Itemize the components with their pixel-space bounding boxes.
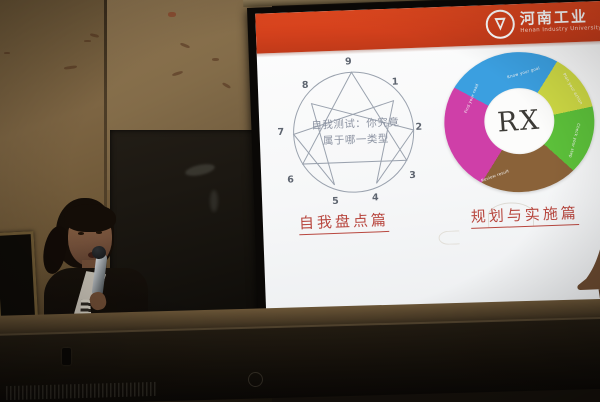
enneagram-point-7: 7: [277, 127, 284, 138]
eye-right: [96, 231, 102, 234]
pencil-arc-sketch-small-icon: [438, 230, 459, 245]
shield-check-logo-icon: [486, 9, 516, 39]
hair-front: [64, 204, 116, 232]
donut-chart: RX Know your goal Plan your action Check…: [442, 49, 600, 200]
enneagram-diagram: 9 1 2 3 4 5 6 7 8 自我测试：你究竟 属于哪一类型: [279, 60, 429, 205]
presentation-photo: 河南工业 Henan Industry University 9 1 2: [0, 0, 600, 402]
caption-self-inventory: 自我盘点篇: [299, 209, 390, 235]
enneagram-point-8: 8: [302, 80, 309, 91]
high-heel-shoe-icon: [571, 244, 600, 300]
enneagram-point-5: 5: [332, 196, 339, 207]
donut-center-label: RX: [496, 104, 542, 138]
projected-slide: 河南工业 Henan Industry University 9 1 2: [255, 1, 600, 330]
university-logo: 河南工业 Henan Industry University: [486, 6, 600, 39]
eye-left: [78, 232, 84, 235]
chalk-smudge-secondary: [210, 190, 218, 212]
wall-picture-frame: [0, 231, 38, 327]
logo-english-name: Henan Industry University: [520, 26, 600, 34]
enneagram-point-9: 9: [345, 56, 352, 67]
caption-planning-implementation: 规划与实施篇: [470, 202, 579, 229]
projection-screen-frame: 河南工业 Henan Industry University 9 1 2: [247, 0, 600, 338]
podium-knob: [248, 372, 263, 387]
logo-chinese-name: 河南工业: [520, 9, 600, 27]
enneagram-center-text: 自我测试：你究竟 属于哪一类型: [293, 115, 418, 151]
podium-clip: [62, 348, 71, 365]
enneagram-point-1: 1: [392, 77, 399, 88]
enneagram-point-3: 3: [409, 170, 416, 181]
enneagram-point-6: 6: [287, 174, 294, 185]
enneagram-point-4: 4: [372, 192, 379, 203]
